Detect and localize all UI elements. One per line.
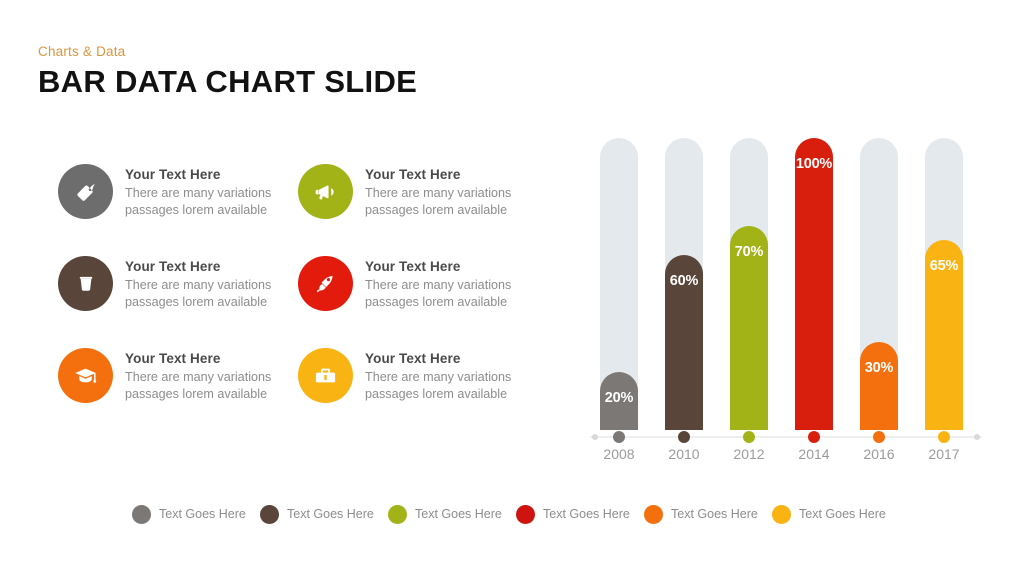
feature-body: There are many variationspassages lorem … — [365, 185, 511, 219]
feature-text: Your Text HereThere are many variationsp… — [365, 254, 511, 311]
feature-item[interactable]: Your Text HereThere are many variationsp… — [58, 254, 298, 346]
kicker-label: Charts & Data — [38, 44, 417, 59]
bar-fill[interactable] — [860, 342, 898, 430]
rocket-icon — [298, 256, 353, 311]
axis-series-dot[interactable] — [613, 431, 625, 443]
legend-label: Text Goes Here — [671, 507, 758, 521]
chart-legend: Text Goes HereText Goes HereText Goes He… — [132, 500, 900, 528]
axis-series-dot[interactable] — [808, 431, 820, 443]
legend-item[interactable]: Text Goes Here — [516, 505, 644, 524]
feature-body: There are many variationspassages lorem … — [125, 369, 271, 403]
feature-body: There are many variationspassages lorem … — [125, 185, 271, 219]
slide-header: Charts & Data BAR DATA CHART SLIDE — [38, 44, 417, 99]
feature-body: There are many variationspassages lorem … — [125, 277, 271, 311]
axis-end-dot — [974, 434, 980, 440]
legend-item[interactable]: Text Goes Here — [772, 505, 900, 524]
legend-item[interactable]: Text Goes Here — [644, 505, 772, 524]
legend-label: Text Goes Here — [287, 507, 374, 521]
legend-item[interactable]: Text Goes Here — [388, 505, 516, 524]
feature-grid: Your Text HereThere are many variationsp… — [58, 162, 558, 427]
axis-tick-label: 2012 — [721, 446, 777, 462]
axis-tick-label: 2010 — [656, 446, 712, 462]
legend-label: Text Goes Here — [543, 507, 630, 521]
bar-value-label: 100% — [795, 156, 833, 172]
legend-label: Text Goes Here — [799, 507, 886, 521]
megaphone-icon — [298, 164, 353, 219]
feature-text: Your Text HereThere are many variationsp… — [125, 254, 271, 311]
feature-body-line: There are many variations — [125, 369, 271, 386]
legend-color-swatch — [260, 505, 279, 524]
feature-text: Your Text HereThere are many variationsp… — [125, 162, 271, 219]
briefcase-icon — [298, 348, 353, 403]
bar-value-label: 65% — [925, 258, 963, 274]
axis-tick-label: 2008 — [591, 446, 647, 462]
feature-body-line: There are many variations — [125, 277, 271, 294]
page-title: BAR DATA CHART SLIDE — [38, 66, 417, 99]
feature-item[interactable]: Your Text HereThere are many variationsp… — [298, 254, 538, 346]
feature-body-line: There are many variations — [125, 185, 271, 202]
feature-body-line: passages lorem available — [365, 294, 511, 311]
bar-column[interactable]: 70% — [730, 138, 768, 430]
legend-label: Text Goes Here — [159, 507, 246, 521]
feature-body: There are many variationspassages lorem … — [365, 369, 511, 403]
feature-body-line: passages lorem available — [365, 202, 511, 219]
feature-item[interactable]: Your Text HereThere are many variationsp… — [58, 162, 298, 254]
bar-column[interactable]: 60% — [665, 138, 703, 430]
legend-color-swatch — [388, 505, 407, 524]
feature-title: Your Text Here — [125, 259, 271, 274]
bar-value-label: 70% — [730, 244, 768, 260]
legend-item[interactable]: Text Goes Here — [132, 505, 260, 524]
feature-body-line: passages lorem available — [125, 386, 271, 403]
bar-chart: 20%60%70%100%30%65% — [590, 138, 982, 430]
legend-color-swatch — [644, 505, 663, 524]
axis-tick-label: 2014 — [786, 446, 842, 462]
chart-axis — [590, 430, 982, 444]
feature-title: Your Text Here — [365, 259, 511, 274]
bar-column[interactable]: 20% — [600, 138, 638, 430]
bar-value-label: 20% — [600, 390, 638, 406]
price-tag-icon — [58, 164, 113, 219]
legend-color-swatch — [516, 505, 535, 524]
legend-color-swatch — [772, 505, 791, 524]
axis-tick-labels: 200820102012201420162017 — [590, 446, 982, 466]
bar-fill[interactable] — [795, 138, 833, 430]
feature-body-line: There are many variations — [365, 277, 511, 294]
feature-body-line: There are many variations — [365, 185, 511, 202]
feature-text: Your Text HereThere are many variationsp… — [365, 346, 511, 403]
axis-series-dot[interactable] — [873, 431, 885, 443]
feature-body-line: There are many variations — [365, 369, 511, 386]
feature-text: Your Text HereThere are many variationsp… — [125, 346, 271, 403]
graduation-cap-icon — [58, 348, 113, 403]
legend-label: Text Goes Here — [415, 507, 502, 521]
bar-column[interactable]: 65% — [925, 138, 963, 430]
feature-item[interactable]: Your Text HereThere are many variationsp… — [298, 162, 538, 254]
bar-column[interactable]: 100% — [795, 138, 833, 430]
bar-value-label: 60% — [665, 273, 703, 289]
feature-item[interactable]: Your Text HereThere are many variationsp… — [298, 346, 538, 438]
coffee-cup-icon — [58, 256, 113, 311]
slide-canvas: Charts & Data BAR DATA CHART SLIDE Your … — [0, 0, 1024, 576]
legend-color-swatch — [132, 505, 151, 524]
feature-title: Your Text Here — [365, 351, 511, 366]
feature-body-line: passages lorem available — [125, 202, 271, 219]
axis-tick-label: 2017 — [916, 446, 972, 462]
feature-title: Your Text Here — [365, 167, 511, 182]
feature-item[interactable]: Your Text HereThere are many variationsp… — [58, 346, 298, 438]
bar-value-label: 30% — [860, 360, 898, 376]
feature-body-line: passages lorem available — [365, 386, 511, 403]
feature-body-line: passages lorem available — [125, 294, 271, 311]
axis-series-dot[interactable] — [678, 431, 690, 443]
axis-tick-label: 2016 — [851, 446, 907, 462]
legend-item[interactable]: Text Goes Here — [260, 505, 388, 524]
axis-series-dot[interactable] — [743, 431, 755, 443]
axis-line — [590, 436, 982, 438]
feature-title: Your Text Here — [125, 167, 271, 182]
feature-title: Your Text Here — [125, 351, 271, 366]
feature-text: Your Text HereThere are many variationsp… — [365, 162, 511, 219]
feature-body: There are many variationspassages lorem … — [365, 277, 511, 311]
axis-end-dot — [592, 434, 598, 440]
axis-series-dot[interactable] — [938, 431, 950, 443]
bar-column[interactable]: 30% — [860, 138, 898, 430]
